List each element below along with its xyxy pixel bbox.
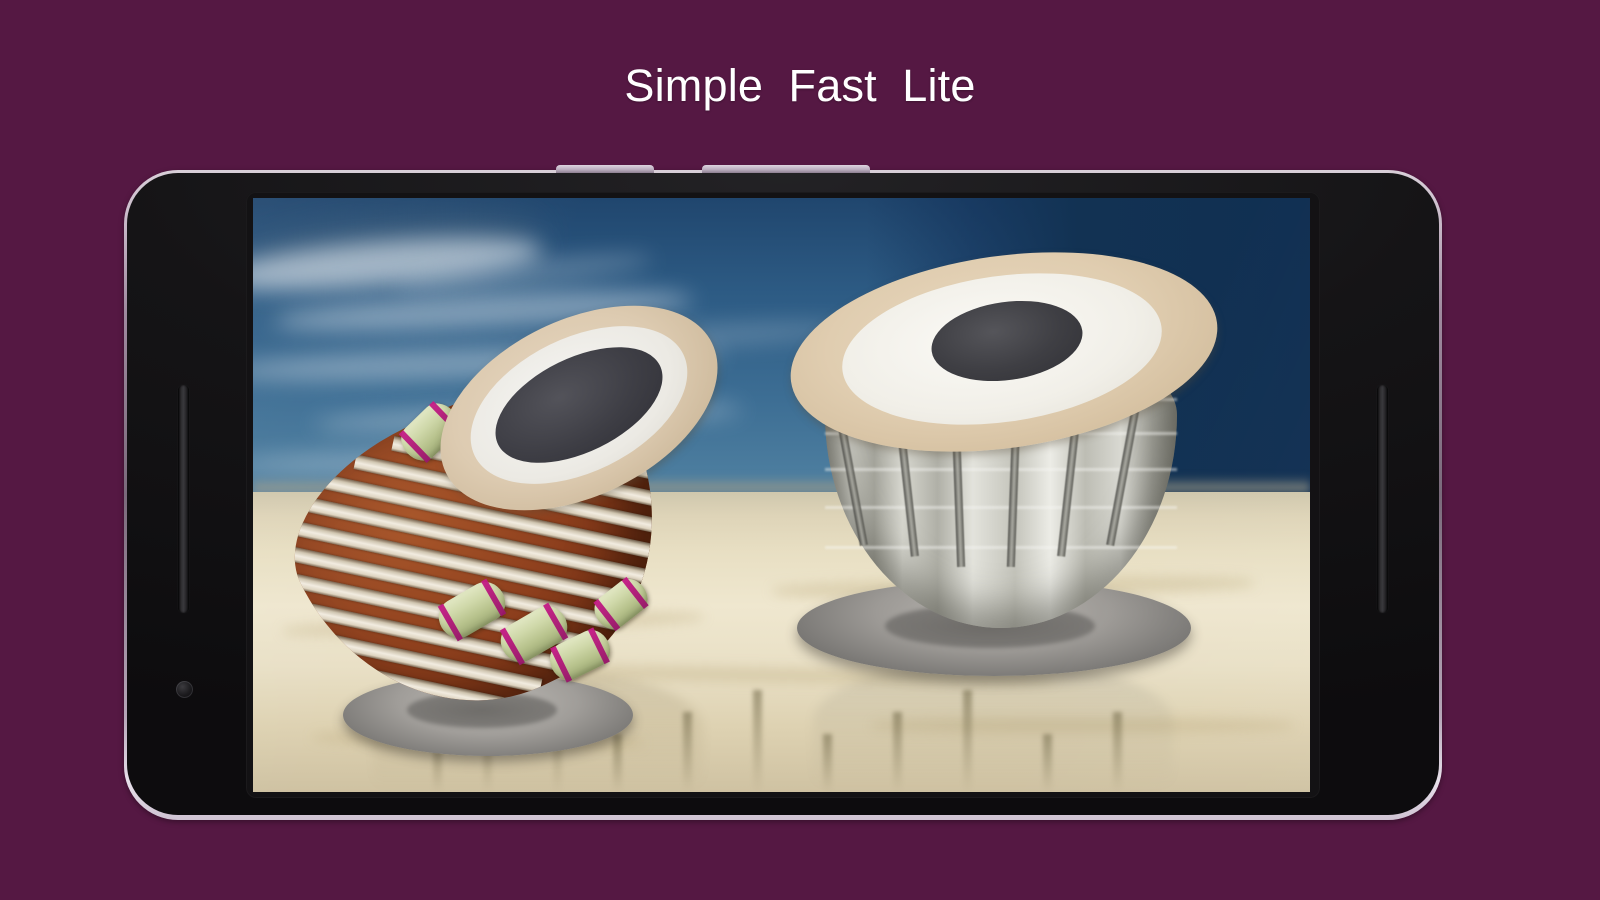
volume-button[interactable] <box>556 165 654 173</box>
bayan-drum <box>789 228 1259 698</box>
reflected-strap <box>893 712 902 792</box>
reflected-strap <box>753 690 762 792</box>
phone-screen[interactable] <box>253 198 1310 792</box>
speaker-grille-left-icon <box>178 385 189 613</box>
bayan-highlight-band <box>825 506 1177 509</box>
power-button[interactable] <box>702 165 870 173</box>
reflected-strap <box>823 734 832 792</box>
front-camera-icon <box>176 681 193 698</box>
speaker-grille-right-icon <box>1377 385 1388 613</box>
reflected-strap <box>963 690 972 792</box>
reflected-strap <box>1113 712 1122 792</box>
page-title: Simple Fast Lite <box>0 57 1600 115</box>
dayan-drum <box>287 284 737 764</box>
reflected-strap <box>1043 734 1052 792</box>
phone-mockup <box>124 170 1442 820</box>
promo-screen: Simple Fast Lite <box>0 0 1600 900</box>
bayan-highlight-band <box>825 546 1177 549</box>
